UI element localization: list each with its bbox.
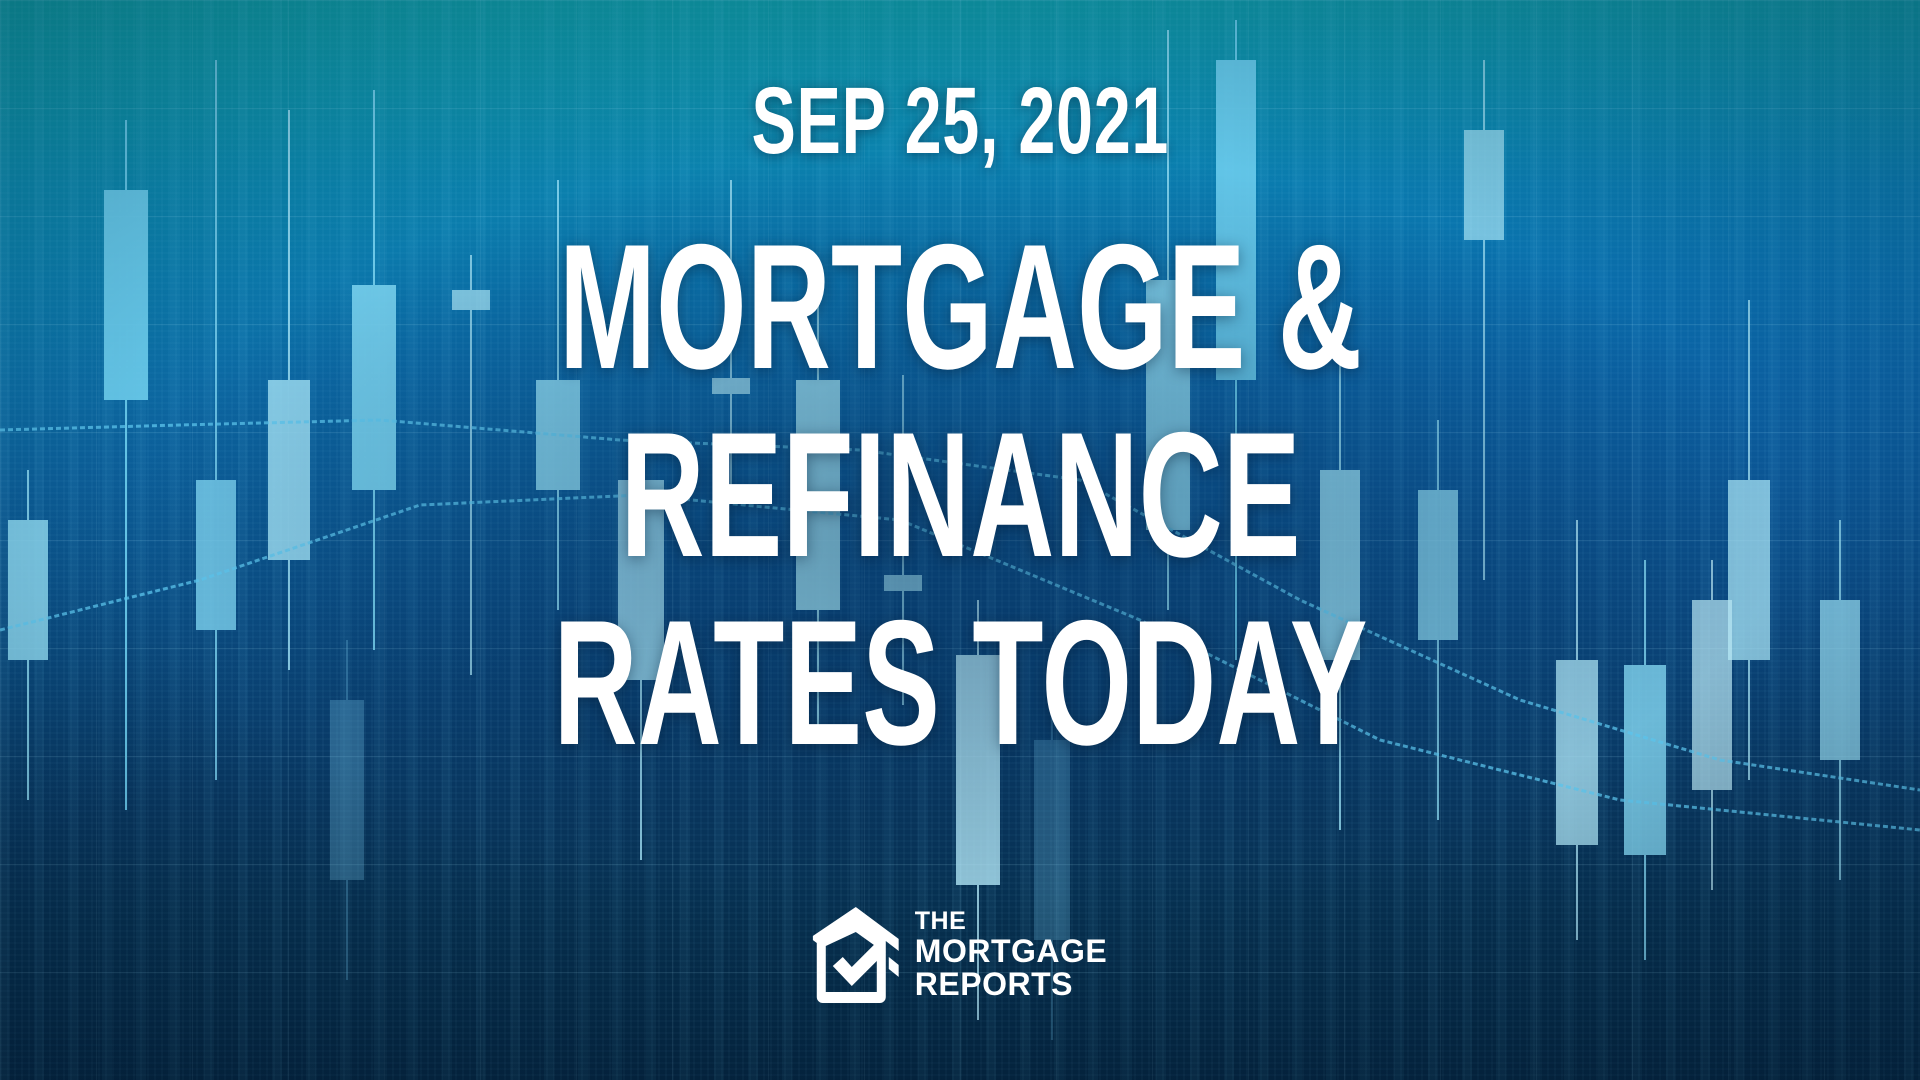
logo-line-mortgage: MORTGAGE <box>915 935 1107 968</box>
banner-date: SEP 25, 2021 <box>751 78 1169 165</box>
promo-banner: SEP 25, 2021 MORTGAGE & REFINANCE RATES … <box>0 0 1920 1080</box>
headline-line-2: REFINANCE <box>553 401 1367 589</box>
headline-line-1: MORTGAGE & <box>553 213 1367 401</box>
house-check-icon <box>813 905 899 1005</box>
banner-headline: MORTGAGE & REFINANCE RATES TODAY <box>339 213 1582 776</box>
the-mortgage-reports-logo[interactable]: THE MORTGAGE REPORTS <box>813 905 1107 1005</box>
headline-line-3: RATES TODAY <box>553 589 1367 777</box>
logo-line-reports: REPORTS <box>915 968 1107 1001</box>
logo-line-the: THE <box>915 909 1107 935</box>
logo-wordmark: THE MORTGAGE REPORTS <box>915 909 1107 1001</box>
